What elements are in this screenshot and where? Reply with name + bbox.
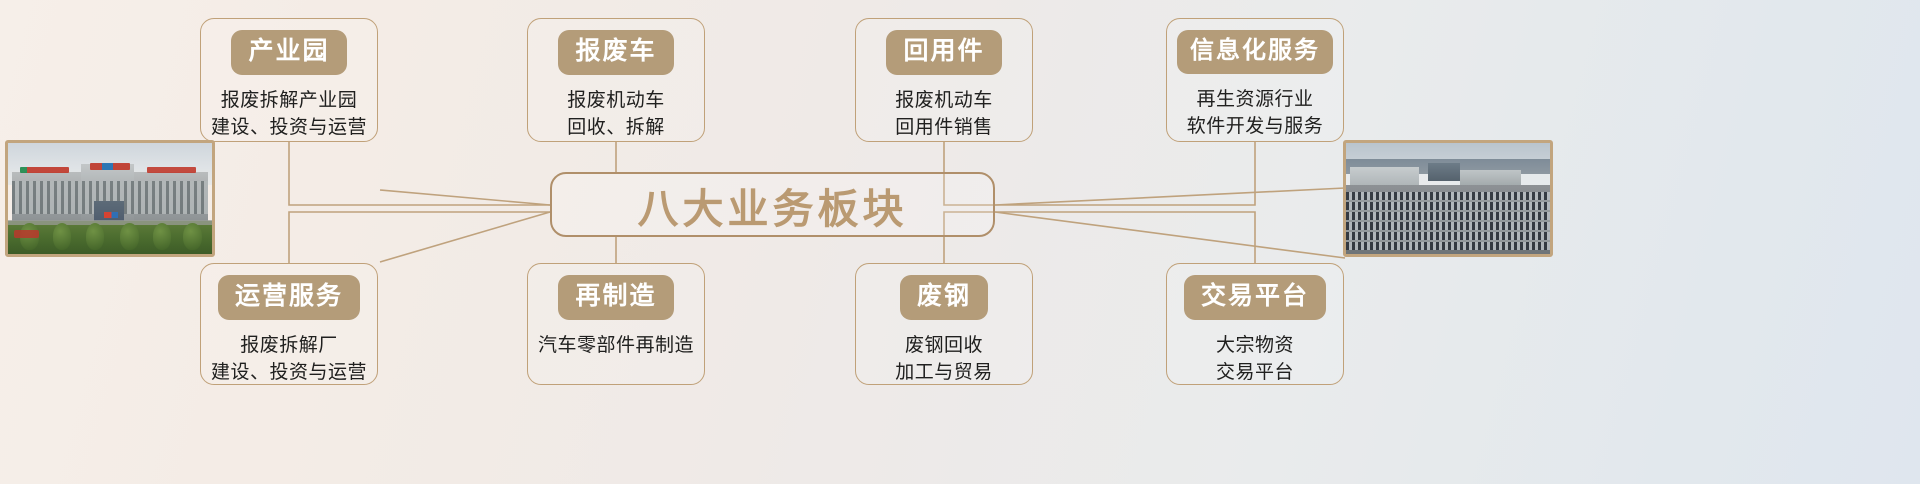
card-description: 大宗物资 交易平台	[1216, 333, 1294, 387]
central-hub[interactable]: 八大业务板块	[550, 172, 995, 237]
link-hub-to-bottom-4	[995, 212, 1255, 263]
office-building-photo	[5, 140, 215, 257]
card-remanufacturing[interactable]: 再制造 汽车零部件再制造	[527, 263, 705, 385]
card-description: 报废机动车 回用件销售	[895, 88, 993, 142]
card-badge: 产业园	[231, 30, 346, 75]
card-badge: 回用件	[886, 30, 1001, 75]
link-hub-to-right-photo-upper	[995, 188, 1345, 205]
link-hub-to-right-photo-lower	[995, 212, 1345, 258]
card-informatization-service[interactable]: 信息化服务 再生资源行业 软件开发与服务	[1166, 18, 1344, 142]
link-hub-to-left-photo-lower	[380, 212, 550, 262]
link-hub-to-top-1	[289, 142, 550, 205]
business-segments-diagram: 八大业务板块 产业园 报废拆解产业园 建设、投资与运营 报废车 报废机动车 回收…	[0, 0, 1920, 484]
hub-title: 八大业务板块	[638, 175, 908, 235]
card-industrial-park[interactable]: 产业园 报废拆解产业园 建设、投资与运营	[200, 18, 378, 142]
card-badge: 信息化服务	[1177, 30, 1333, 74]
card-reusable-parts[interactable]: 回用件 报废机动车 回用件销售	[855, 18, 1033, 142]
card-trading-platform[interactable]: 交易平台 大宗物资 交易平台	[1166, 263, 1344, 385]
card-description: 再生资源行业 软件开发与服务	[1187, 87, 1324, 141]
card-description: 报废机动车 回收、拆解	[567, 88, 665, 142]
card-description: 废钢回收 加工与贸易	[895, 333, 993, 387]
link-hub-to-left-photo-upper	[380, 190, 550, 205]
card-badge: 运营服务	[218, 275, 360, 320]
link-hub-to-top-4	[995, 142, 1255, 205]
link-hub-to-bottom-1	[289, 212, 550, 263]
card-description: 报废拆解厂 建设、投资与运营	[211, 333, 367, 387]
card-description: 报废拆解产业园 建设、投资与运营	[211, 88, 367, 142]
card-description: 汽车零部件再制造	[538, 333, 694, 360]
card-operation-service[interactable]: 运营服务 报废拆解厂 建设、投资与运营	[200, 263, 378, 385]
card-badge: 交易平台	[1184, 275, 1326, 320]
card-badge: 再制造	[558, 275, 673, 320]
office-building-photo-art	[8, 143, 212, 254]
vehicle-yard-photo-art	[1346, 143, 1550, 254]
vehicle-yard-photo	[1343, 140, 1553, 257]
card-scrap-steel[interactable]: 废钢 废钢回收 加工与贸易	[855, 263, 1033, 385]
card-badge: 废钢	[900, 275, 988, 320]
card-badge: 报废车	[558, 30, 673, 75]
card-scrap-vehicle[interactable]: 报废车 报废机动车 回收、拆解	[527, 18, 705, 142]
